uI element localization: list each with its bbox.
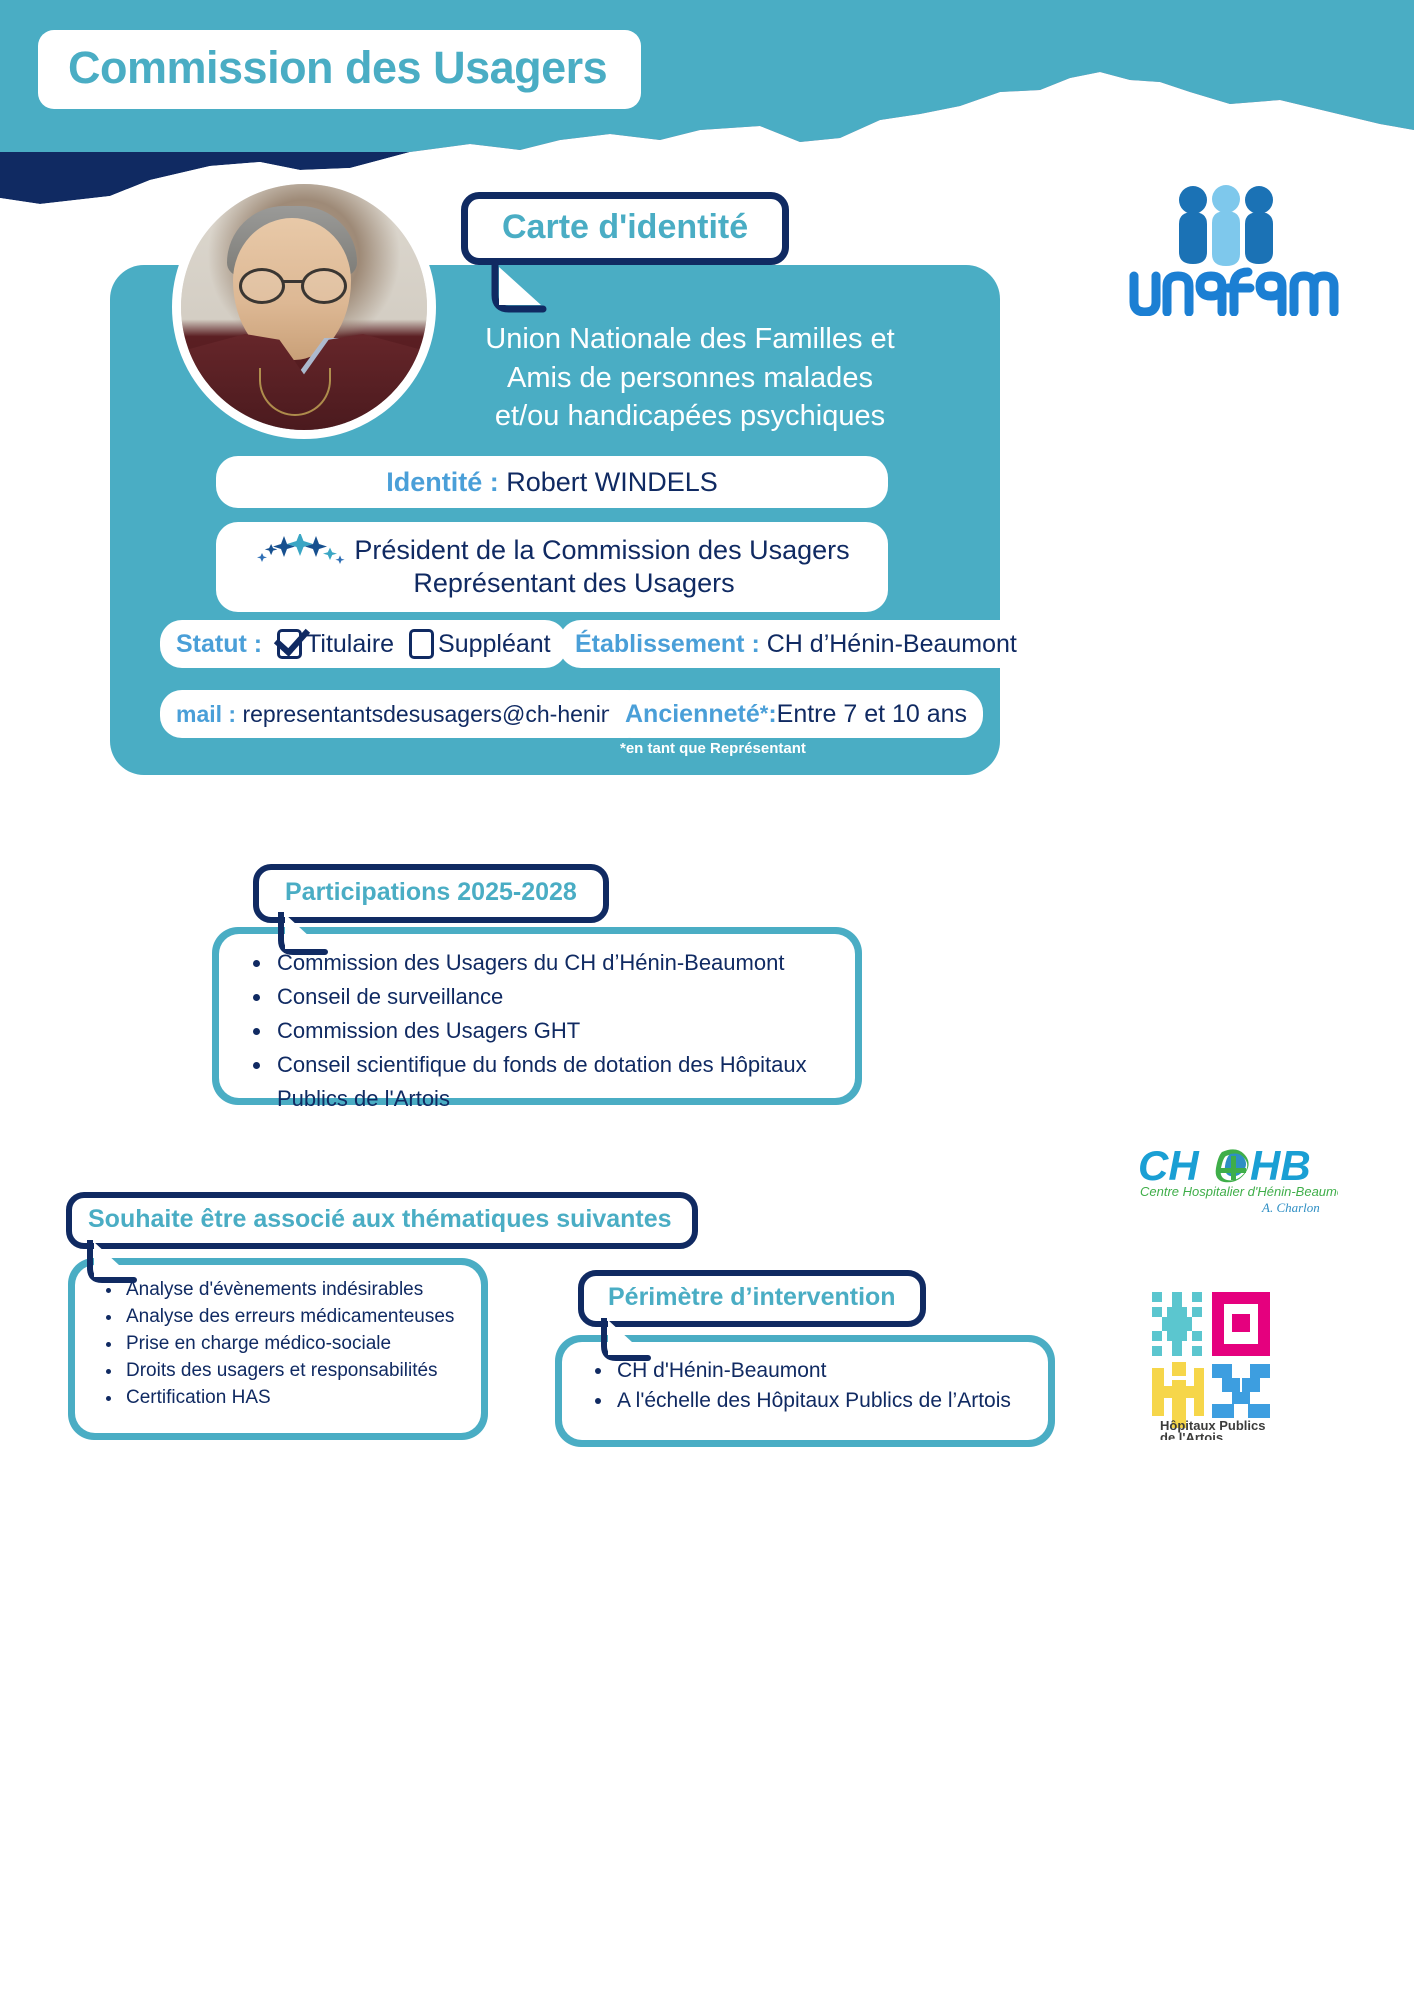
anciennete-separator: : bbox=[768, 700, 776, 729]
bubble-tail-icon bbox=[600, 1318, 656, 1364]
org-description-line-2: Amis de personnes malades bbox=[430, 359, 950, 398]
statut-label: Statut : bbox=[176, 630, 262, 659]
role-field: Président de la Commission des Usagers R… bbox=[216, 522, 888, 612]
participations-card-inner: Commission des Usagers du CH d’Hénin-Bea… bbox=[219, 934, 855, 1098]
thematiques-bubble: Souhaite être associé aux thématiques su… bbox=[66, 1192, 698, 1249]
hpa-blue-icon bbox=[1212, 1364, 1270, 1418]
carte-identite-bubble-box: Carte d'identité bbox=[461, 192, 789, 265]
chhb-initials-left: CH bbox=[1138, 1142, 1200, 1189]
glasses-icon bbox=[237, 268, 349, 298]
bubble-tail-icon bbox=[86, 1240, 142, 1286]
bubble-tail-icon bbox=[491, 265, 551, 315]
stars-icon bbox=[254, 534, 346, 568]
thematiques-bubble-box: Souhaite être associé aux thématiques su… bbox=[66, 1192, 698, 1249]
role-line-2: Représentant des Usagers bbox=[234, 568, 870, 600]
anciennete-asterisk: * bbox=[760, 701, 769, 727]
hpa-teal-cross-icon bbox=[1152, 1292, 1202, 1356]
statut-field: Statut : Titulaire Suppléant bbox=[160, 620, 567, 668]
anciennete-label: Ancienneté bbox=[625, 700, 760, 729]
hopitaux-publics-artois-logo: Hôpitaux Publics de l'Artois bbox=[1150, 1290, 1280, 1440]
identity-label: Identité : bbox=[386, 467, 499, 498]
mail-label: mail : bbox=[176, 701, 236, 728]
participations-list: Commission des Usagers du CH d’Hénin-Bea… bbox=[229, 946, 845, 1115]
anciennete-field: Ancienneté * : Entre 7 et 10 ans bbox=[609, 690, 983, 738]
checkbox-titulaire[interactable] bbox=[277, 629, 302, 659]
avatar bbox=[172, 175, 436, 439]
mail-field: mail : representantsdesusagers@ch-henin.… bbox=[160, 690, 650, 738]
list-item: CH d'Hénin-Beaumont bbox=[614, 1356, 1040, 1386]
chhb-signature: A. Charlon bbox=[1261, 1200, 1320, 1215]
participations-label: Participations 2025-2028 bbox=[285, 878, 577, 907]
page-title: Commission des Usagers bbox=[68, 44, 607, 91]
unafam-logo bbox=[1110, 176, 1340, 316]
avatar-photo bbox=[181, 184, 427, 430]
list-item: A l'échelle des Hôpitaux Publics de l’Ar… bbox=[614, 1386, 1040, 1416]
list-item: Analyse des erreurs médicamenteuses bbox=[123, 1304, 473, 1331]
chhb-leaf-icon bbox=[1216, 1149, 1249, 1182]
identity-field: Identité : Robert WINDELS bbox=[216, 456, 888, 508]
thematiques-label: Souhaite être associé aux thématiques su… bbox=[88, 1205, 672, 1234]
perimetre-label: Périmètre d’intervention bbox=[608, 1283, 896, 1312]
org-description-line-3: et/ou handicapées psychiques bbox=[430, 397, 950, 436]
list-item: Commission des Usagers du CH d’Hénin-Bea… bbox=[273, 946, 845, 980]
list-item: Prise en charge médico-sociale bbox=[123, 1331, 473, 1358]
header-title-plate: Commission des Usagers bbox=[38, 30, 641, 109]
chhb-initials-right: HB bbox=[1250, 1142, 1311, 1189]
list-item: Analyse d'évènements indésirables bbox=[123, 1277, 473, 1304]
etablissement-value: CH d’Hénin-Beaumont bbox=[767, 630, 1017, 659]
statut-option-titulaire: Titulaire bbox=[306, 630, 394, 659]
etablissement-field: Établissement : CH d’Hénin-Beaumont bbox=[559, 620, 1033, 668]
list-item: Commission des Usagers GHT bbox=[273, 1014, 845, 1048]
list-item: Conseil de surveillance bbox=[273, 980, 845, 1014]
list-item: Certification HAS bbox=[123, 1385, 473, 1412]
anciennete-footnote: *en tant que Représentant bbox=[620, 740, 806, 757]
anciennete-value: Entre 7 et 10 ans bbox=[777, 700, 967, 729]
list-item: Droits des usagers et responsabilités bbox=[123, 1358, 473, 1385]
mail-value: representantsdesusagers@ch-henin.fr bbox=[242, 701, 634, 728]
org-description-line-1: Union Nationale des Familles et bbox=[430, 320, 950, 359]
carte-identite-bubble: Carte d'identité bbox=[461, 192, 789, 265]
carte-identite-label: Carte d'identité bbox=[502, 209, 748, 246]
identity-value: Robert WINDELS bbox=[506, 467, 718, 498]
list-item: Conseil scientifique du fonds de dotatio… bbox=[273, 1048, 845, 1116]
chhb-logo: CH HB Centre Hospitalier d'Hénin-Beaumon… bbox=[1138, 1140, 1338, 1220]
bubble-tail-icon bbox=[277, 912, 333, 958]
org-description: Union Nationale des Familles et Amis de … bbox=[430, 320, 950, 436]
chhb-subtitle: Centre Hospitalier d'Hénin-Beaumont bbox=[1140, 1184, 1338, 1199]
perimetre-list: CH d'Hénin-Beaumont A l'échelle des Hôpi… bbox=[570, 1356, 1040, 1416]
etablissement-label: Établissement : bbox=[575, 630, 760, 659]
hpa-pink-square-icon bbox=[1212, 1292, 1270, 1356]
checkbox-suppleant[interactable] bbox=[409, 629, 434, 659]
hpa-line-2: de l'Artois bbox=[1160, 1430, 1223, 1440]
thematiques-card-inner: Analyse d'évènements indésirables Analys… bbox=[75, 1265, 481, 1433]
participations-bubble: Participations 2025-2028 bbox=[253, 864, 609, 923]
perimetre-bubble: Périmètre d’intervention bbox=[578, 1270, 926, 1327]
statut-option-suppleant: Suppléant bbox=[438, 630, 551, 659]
role-line-1: Président de la Commission des Usagers bbox=[354, 535, 849, 567]
thematiques-list: Analyse d'évènements indésirables Analys… bbox=[83, 1277, 473, 1412]
